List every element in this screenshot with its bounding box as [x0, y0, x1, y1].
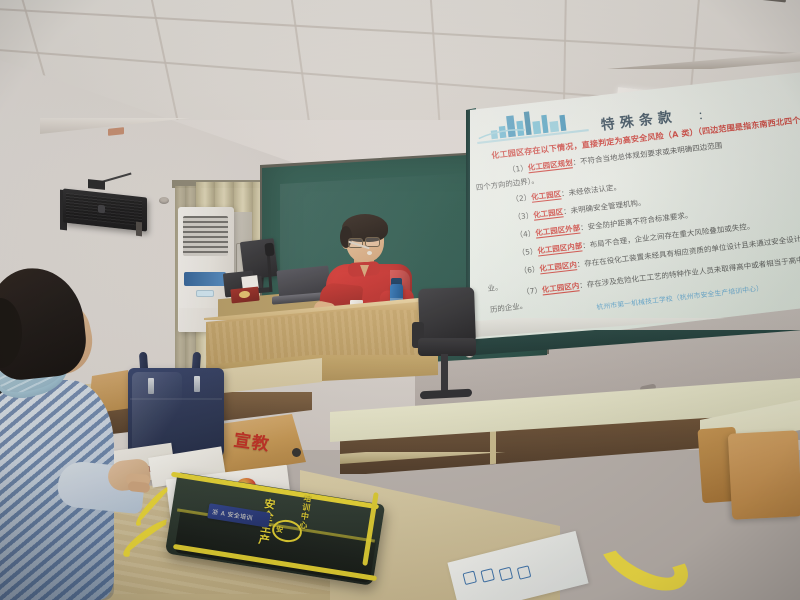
- slide-footer-organization: 杭州市第一机械技工学校（杭州市安全生产培训中心）: [596, 283, 764, 312]
- bullet-6-keyword: 化工园区内: [539, 261, 577, 275]
- leaflet-icon-1: [462, 571, 477, 586]
- slide-wrap-1: 四个方向的边界）。: [475, 175, 539, 193]
- tote-handle-right: [590, 514, 698, 600]
- city-skyline-icon: [474, 103, 589, 145]
- office-chair-back[interactable]: [418, 287, 476, 345]
- bullet-3-text: ：未明确安全管理机构。: [563, 198, 646, 216]
- slide-wrap-2: 业。: [487, 282, 503, 294]
- presentation-slide: 《化工园区安全风险排查治理导则（试行）》 ——解读 特殊条款 ： 化工园区存在以…: [470, 72, 800, 348]
- leaflet-icon-3: [499, 567, 514, 582]
- bullet-4-num: （4）: [515, 229, 536, 240]
- speaker-bracket-right: [136, 222, 142, 237]
- bullet-3-keyword: 化工园区: [533, 208, 564, 221]
- bullet-1-keyword: 化工园区规划: [527, 159, 573, 174]
- handbag-clasp-right-icon: [194, 376, 200, 392]
- bullet-7-keyword: 化工园区内: [542, 282, 580, 296]
- bullet-6-num: （6）: [519, 265, 540, 276]
- air-conditioner-vent-grille: [183, 216, 228, 256]
- office-chair-post: [441, 354, 448, 394]
- bullet-3-num: （3）: [513, 211, 534, 222]
- bullet-2-text: ：未经依法认定。: [561, 183, 622, 198]
- slide-wrap-3: 历的企业。: [490, 301, 528, 316]
- bullet-4-keyword: 化工园区外部: [535, 224, 581, 239]
- speaker-logo-icon: [98, 205, 105, 214]
- leaflet-icon-2: [480, 568, 495, 583]
- leaflet-icon-4: [517, 565, 532, 580]
- chair-knob: [292, 448, 301, 457]
- classroom-photo-scene: 《化工园区安全风险排查治理导则（试行）》 ——解读 特殊条款 ： 化工园区存在以…: [0, 0, 800, 600]
- bullet-7-num: （7）: [522, 286, 543, 297]
- headset-microphone-capsule-icon: [367, 251, 372, 255]
- eyeglasses-bridge-icon: [363, 241, 367, 242]
- slide-title-colon: ：: [697, 106, 709, 123]
- projection-screen: 《化工园区安全风险排查治理导则（试行）》 ——解读 特殊条款 ： 化工园区存在以…: [470, 72, 800, 348]
- speaker-junction-box: [88, 179, 105, 190]
- chair-back-red-text: 宣教: [232, 426, 271, 456]
- air-conditioner-brand-panel: [184, 272, 226, 286]
- bullet-2-num: （2）: [511, 193, 532, 204]
- bullet-5-num: （5）: [517, 247, 538, 258]
- handbag-clasp-left-icon: [148, 378, 154, 394]
- wooden-chair-right[interactable]: [728, 430, 800, 520]
- bullet-2-keyword: 化工园区: [531, 190, 562, 203]
- bullet-5-keyword: 化工园区内部: [537, 242, 583, 257]
- air-conditioner-display: [196, 290, 214, 297]
- eyeglasses-lens-right-icon: [365, 237, 380, 247]
- microphone-head: [264, 243, 274, 257]
- bullet-1-num: （1）: [508, 164, 529, 175]
- smoke-detector-icon: [159, 197, 169, 204]
